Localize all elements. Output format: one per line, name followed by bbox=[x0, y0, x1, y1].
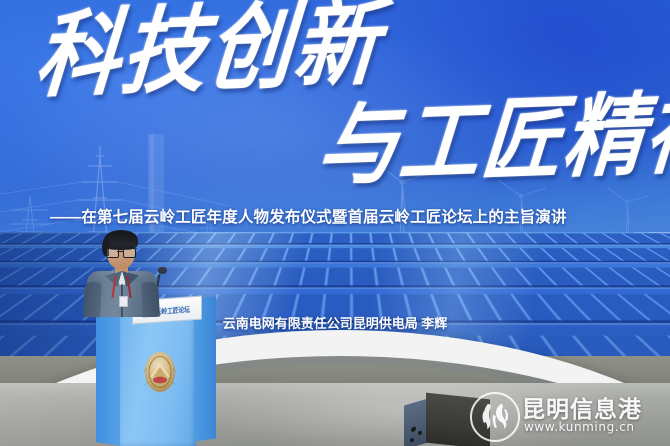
speaker-arm-right bbox=[141, 282, 160, 318]
podium: 首届云岭工匠论坛 bbox=[96, 300, 218, 446]
kunming-horse-logo-icon bbox=[470, 392, 520, 442]
backdrop-title-line1: 科技创新 bbox=[32, 0, 384, 101]
watermark-site-name: 昆明信息港 bbox=[522, 390, 642, 424]
speaker-arm-left bbox=[83, 282, 102, 318]
podium-left-panel bbox=[96, 302, 122, 446]
backdrop-title-block: 科技创新 与工匠精神 ——在第七届云岭工匠年度人物发布仪式暨首届云岭工匠论坛上的… bbox=[0, 0, 670, 215]
photo-frame: 科技创新 与工匠精神 ——在第七届云岭工匠年度人物发布仪式暨首届云岭工匠论坛上的… bbox=[0, 0, 670, 446]
union-emblem-icon bbox=[142, 350, 178, 394]
watermark: 昆明信息港 www.kunming.cn bbox=[470, 386, 666, 442]
monitor-front-face bbox=[404, 399, 428, 446]
backdrop-subtitle: ——在第七届云岭工匠年度人物发布仪式暨首届云岭工匠论坛上的主旨演讲 bbox=[50, 205, 567, 227]
glasses-icon bbox=[106, 248, 136, 256]
watermark-url: www.kunming.cn bbox=[524, 420, 635, 434]
speaker-hair bbox=[104, 230, 138, 250]
speaker-person bbox=[78, 228, 170, 314]
backdrop-title-line2: 与工匠精神 bbox=[314, 89, 670, 189]
speaker-badge bbox=[119, 296, 128, 307]
